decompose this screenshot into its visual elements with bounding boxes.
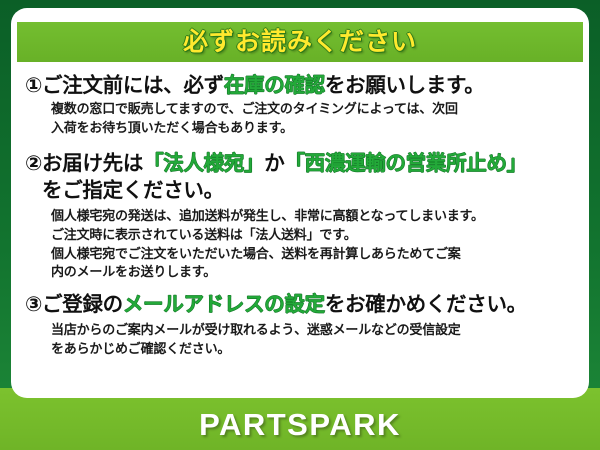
highlighted-keyword: 在庫の確認: [224, 74, 325, 97]
body-line: 入荷をお待ち頂いただく場合もあります。: [51, 119, 577, 138]
body-line: ご注文時に表示されている送料は「法人送料」です。: [51, 226, 577, 245]
section-2-body: 個人様宅宛の発送は、追加送料が発生し、非常に高額となってしまいます。ご注文時に表…: [25, 207, 577, 282]
section-2-heading: ②お届け先は「法人様宛」か「西濃運輸の営業所止め」: [25, 150, 577, 177]
heading-text: ①ご注文前には、必ず: [25, 74, 224, 97]
header-banner: 必ずお読みください: [17, 22, 583, 62]
body-line: をあらかじめご確認ください。: [51, 340, 577, 359]
body-line: 複数の窓口で販売してますので、ご注文のタイミングによっては、次回: [51, 100, 577, 119]
notice-section-1: ①ご注文前には、必ず在庫の確認をお願いします。 複数の窓口で販売してますので、ご…: [25, 72, 577, 138]
body-line: 内のメールをお送りします。: [51, 263, 577, 282]
notice-card: 必ずお読みください ①ご注文前には、必ず在庫の確認をお願いします。 複数の窓口で…: [11, 8, 589, 398]
notice-section-2: ②お届け先は「法人様宛」か「西濃運輸の営業所止め」 をご指定ください。 個人様宅…: [25, 150, 577, 282]
body-line: 個人様宅宛の発送は、追加送料が発生し、非常に高額となってしまいます。: [51, 207, 577, 226]
highlighted-keyword: 「西濃運輸の営業所止め」: [284, 152, 526, 175]
body-line: 個人様宅宛でご注文をいただいた場合、送料を再計算しあらためてご案: [51, 245, 577, 264]
section-1-heading: ①ご注文前には、必ず在庫の確認をお願いします。: [25, 72, 577, 99]
notice-frame: 必ずお読みください ①ご注文前には、必ず在庫の確認をお願いします。 複数の窓口で…: [0, 0, 600, 450]
notice-section-3: ③ご登録のメールアドレスの設定をお確かめください。 当店からのご案内メールが受け…: [25, 291, 577, 359]
heading-text: か: [264, 152, 284, 175]
heading-text: をお願いします。: [325, 74, 485, 97]
section-3-body: 当店からのご案内メールが受け取れるよう、迷惑メールなどの受信設定をあらかじめご確…: [25, 321, 577, 359]
notice-body: ①ご注文前には、必ず在庫の確認をお願いします。 複数の窓口で販売してますので、ご…: [11, 62, 589, 359]
highlighted-keyword: 「法人様宛」: [143, 152, 264, 175]
heading-text: ②お届け先は: [25, 152, 143, 175]
page-title: 必ずお読みください: [183, 30, 417, 55]
heading-text: ③ご登録の: [25, 293, 123, 316]
body-line: 当店からのご案内メールが受け取れるよう、迷惑メールなどの受信設定: [51, 321, 577, 340]
section-3-heading: ③ご登録のメールアドレスの設定をお確かめください。: [25, 291, 577, 318]
section-1-body: 複数の窓口で販売してますので、ご注文のタイミングによっては、次回入荷をお待ち頂い…: [25, 100, 577, 138]
section-2-heading-line2: をご指定ください。: [25, 177, 577, 204]
highlighted-keyword: メールアドレスの設定: [123, 293, 325, 316]
heading-text: をお確かめください。: [325, 293, 527, 316]
